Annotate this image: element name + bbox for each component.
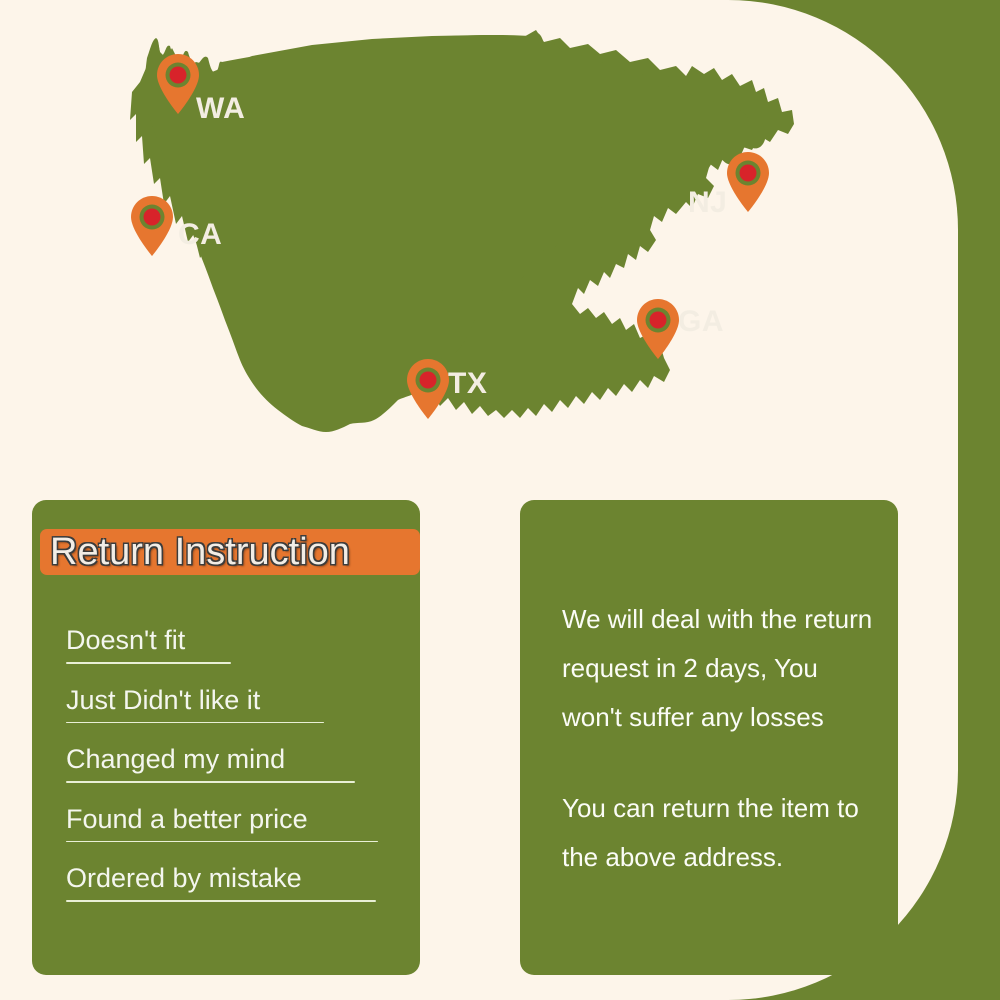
return-policy-card: We will deal with the return request in …	[520, 500, 898, 975]
reason-label: Doesn't fit	[66, 622, 185, 658]
list-item[interactable]: Found a better price	[66, 801, 402, 843]
page-title: Return Instruction	[50, 533, 350, 571]
map-section: WA CA TX GA	[0, 0, 1000, 500]
policy-paragraph-2: You can return the item to the above add…	[562, 784, 874, 882]
reason-underline	[66, 722, 324, 724]
return-reasons-list: Doesn't fit Just Didn't like it Changed …	[66, 622, 402, 920]
location-pin-icon	[724, 150, 772, 214]
return-instruction-title-bar: Return Instruction	[40, 529, 420, 575]
map-pin-label-WA: WA	[196, 94, 245, 124]
paragraph-spacer	[562, 742, 874, 784]
page-root: WA CA TX GA	[0, 0, 1000, 1000]
map-pin-label-CA: CA	[178, 220, 222, 250]
reason-underline	[66, 781, 355, 783]
list-item[interactable]: Changed my mind	[66, 741, 402, 783]
reason-underline	[66, 900, 376, 902]
reason-underline	[66, 662, 231, 664]
reason-label: Ordered by mistake	[66, 860, 302, 896]
reason-label: Changed my mind	[66, 741, 285, 777]
reason-underline	[66, 841, 378, 843]
location-pin-icon	[128, 194, 176, 258]
map-pin-label-TX: TX	[448, 369, 487, 399]
policy-paragraph-1: We will deal with the return request in …	[562, 595, 874, 742]
reason-label: Just Didn't like it	[66, 682, 260, 718]
list-item[interactable]: Just Didn't like it	[66, 682, 402, 724]
return-policy-body: We will deal with the return request in …	[562, 595, 874, 882]
location-pin-icon	[634, 297, 682, 361]
list-item[interactable]: Ordered by mistake	[66, 860, 402, 902]
map-pin-label-GA: GA	[678, 307, 724, 337]
list-item[interactable]: Doesn't fit	[66, 622, 402, 664]
location-pin-icon	[404, 357, 452, 421]
reason-label: Found a better price	[66, 801, 308, 837]
map-pin-label-NJ: NJ	[688, 188, 727, 218]
return-reasons-card: Return Instruction Doesn't fit Just Didn…	[32, 500, 420, 975]
location-pin-icon	[154, 52, 202, 116]
